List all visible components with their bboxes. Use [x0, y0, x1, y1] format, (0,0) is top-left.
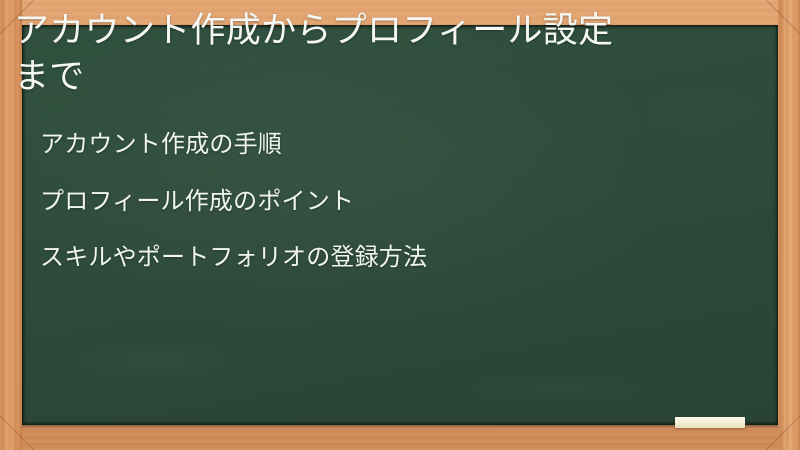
- topic-label: スキルやポートフォリオの登録方法: [40, 243, 427, 271]
- slide-title-line-1: アカウント作成からプロフィール設定: [14, 11, 613, 51]
- list-item: アカウント作成の手順: [40, 130, 784, 158]
- topic-label: アカウント作成の手順: [40, 130, 282, 158]
- topic-list: アカウント作成の手順 プロフィール作成のポイント スキルやポートフォリオの登録方…: [10, 130, 784, 271]
- list-item: プロフィール作成のポイント: [40, 187, 784, 215]
- slide-content: アカウント作成からプロフィール設定まで アカウント作成の手順 プロフィール作成の…: [0, 0, 800, 450]
- chalk-stick-icon: [675, 417, 745, 428]
- topic-label: プロフィール作成のポイント: [40, 187, 354, 215]
- chalkboard-slide: アカウント作成からプロフィール設定まで アカウント作成の手順 プロフィール作成の…: [0, 0, 800, 450]
- list-item: スキルやポートフォリオの登録方法: [40, 243, 784, 271]
- slide-title-line-2: まで: [14, 57, 85, 97]
- slide-title: アカウント作成からプロフィール設定まで: [10, 8, 784, 100]
